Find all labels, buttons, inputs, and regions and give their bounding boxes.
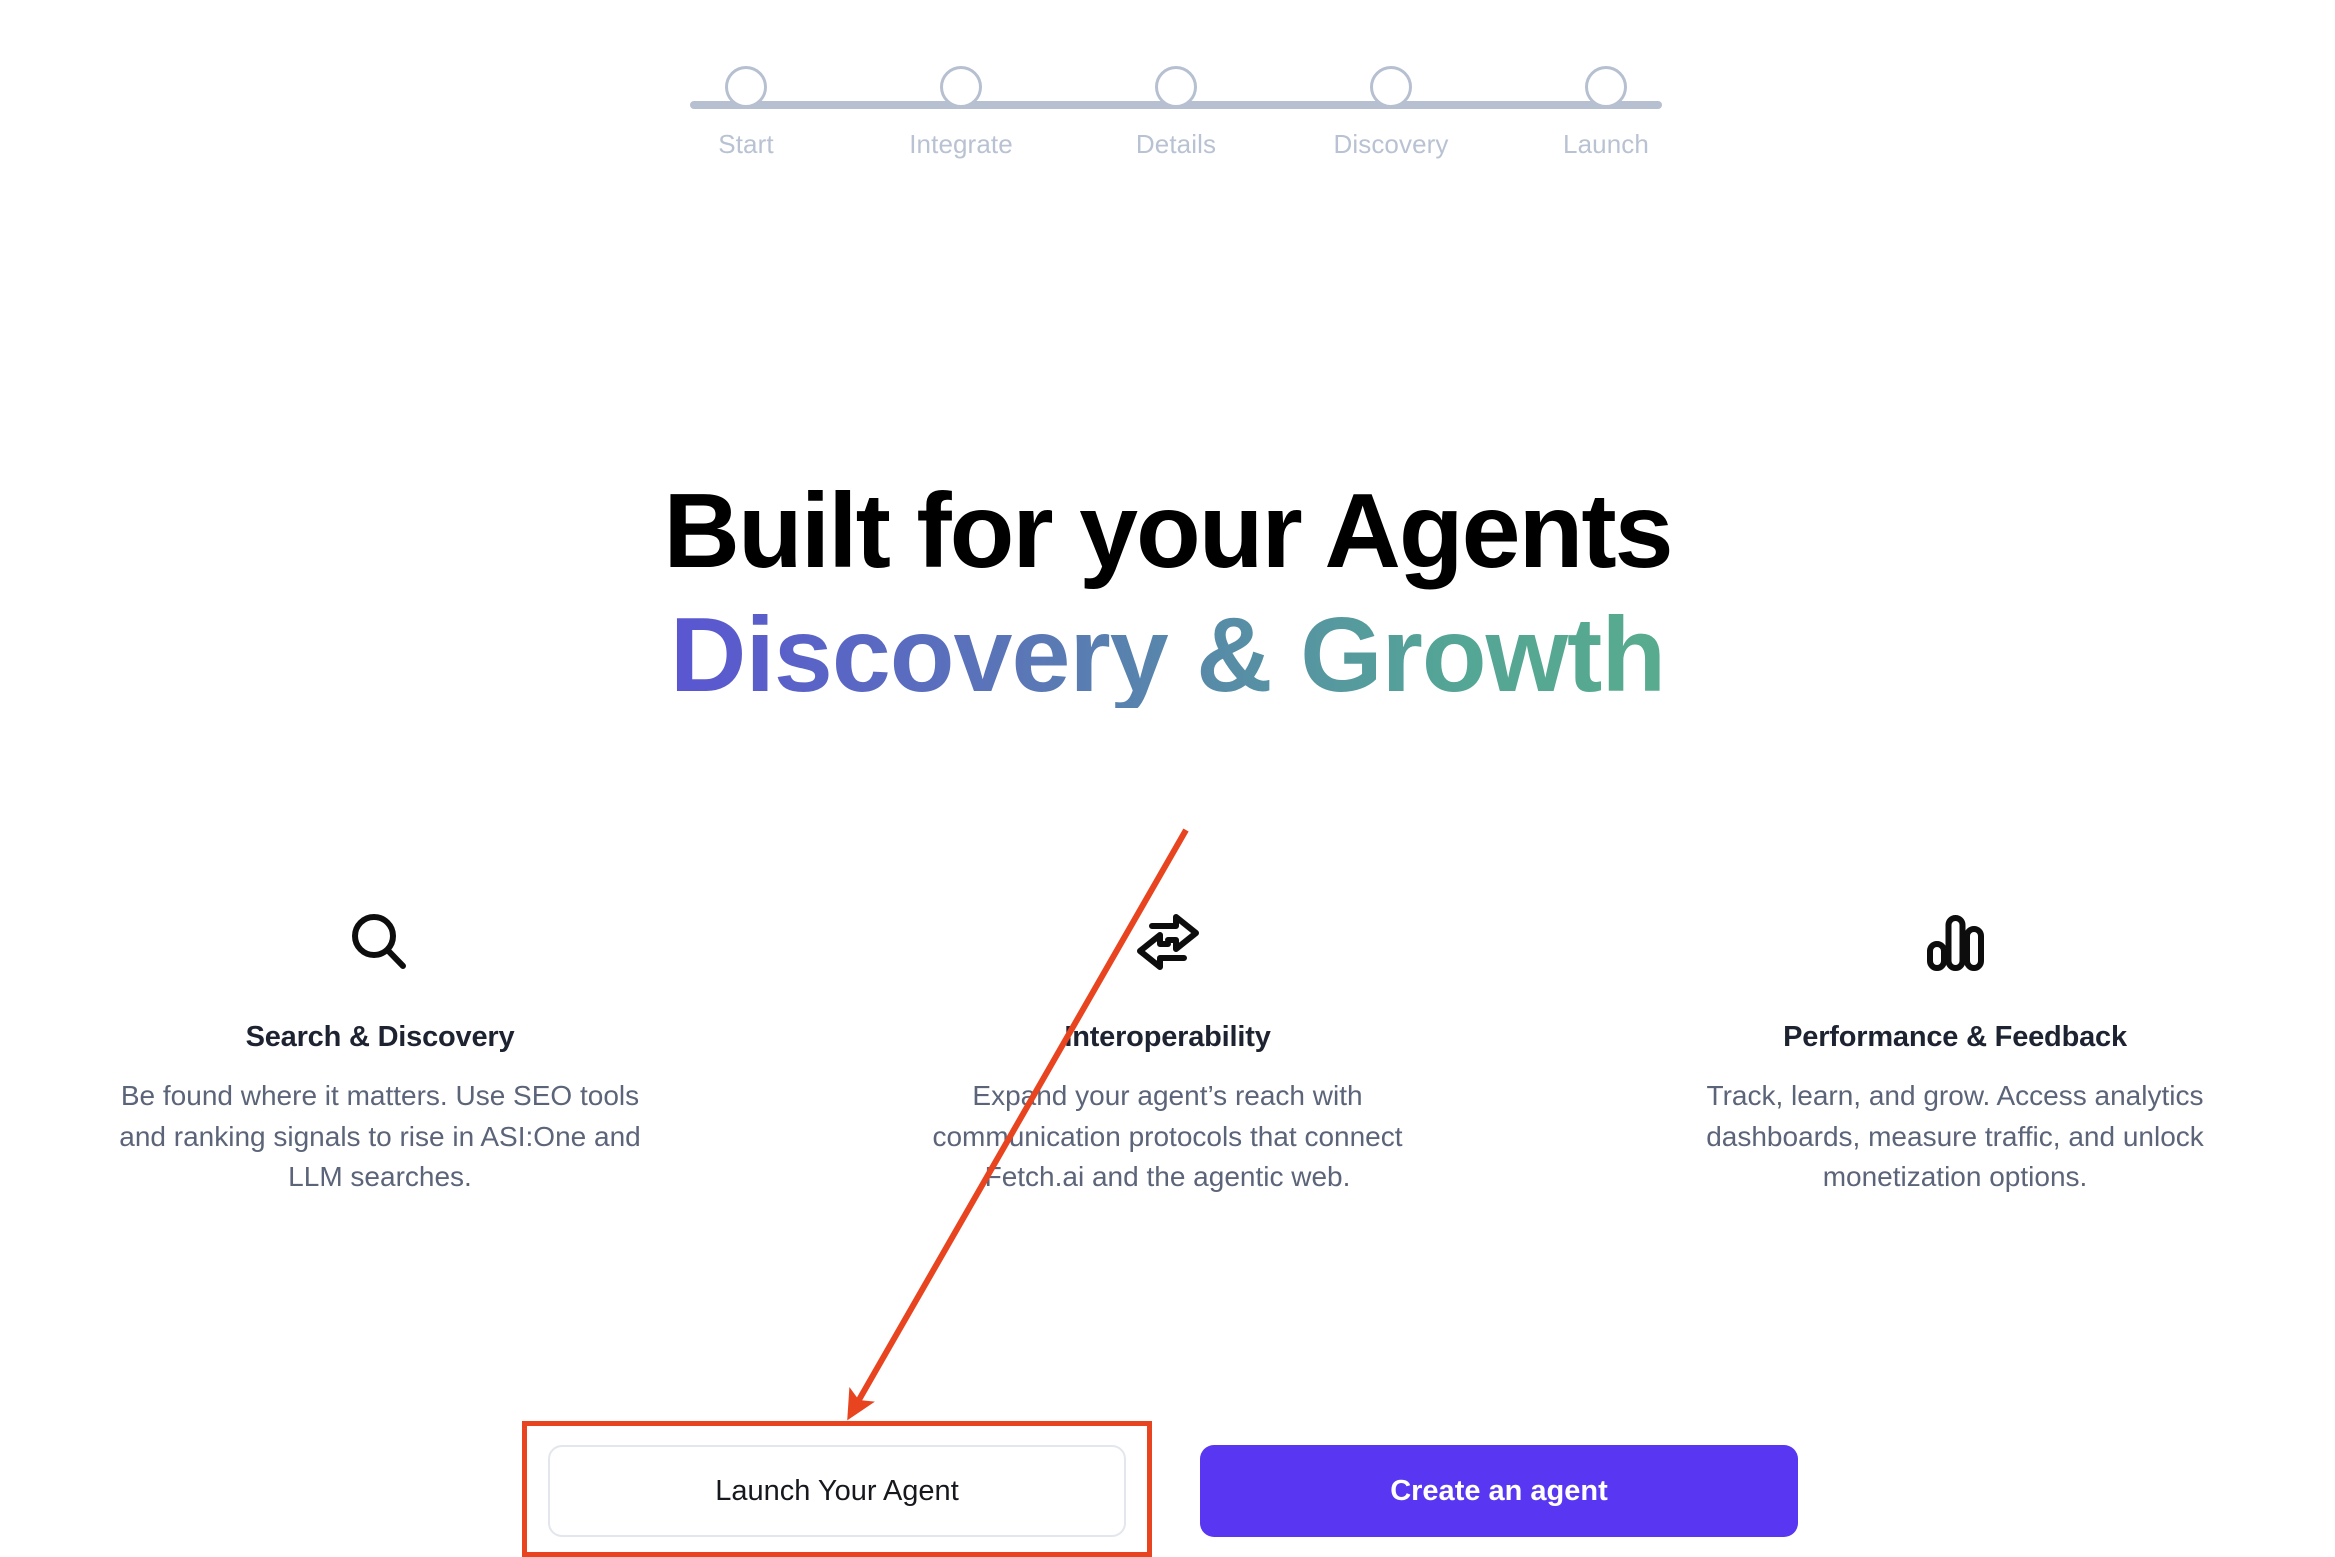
action-bar: Launch Your Agent Create an agent bbox=[0, 1445, 2335, 1557]
step-dot-icon bbox=[725, 66, 767, 108]
headline-line-2: Discovery & Growth bbox=[0, 602, 2335, 708]
stepper-step-label: Start bbox=[718, 129, 773, 160]
step-dot-icon bbox=[940, 66, 982, 108]
stepper-step-start[interactable]: Start bbox=[676, 66, 816, 160]
feature-card-performance-feedback: Performance & Feedback Track, learn, and… bbox=[1635, 905, 2275, 1198]
bar-chart-icon bbox=[1919, 905, 1991, 981]
feature-description: Expand your agent’s reach with communica… bbox=[883, 1076, 1453, 1198]
feature-title: Search & Discovery bbox=[246, 1021, 515, 1054]
stepper-step-label: Details bbox=[1136, 129, 1216, 160]
feature-description: Be found where it matters. Use SEO tools… bbox=[95, 1076, 665, 1198]
search-icon bbox=[344, 905, 416, 981]
stepper-step-details[interactable]: Details bbox=[1106, 66, 1246, 160]
stepper-step-launch[interactable]: Launch bbox=[1536, 66, 1676, 160]
step-dot-icon bbox=[1370, 66, 1412, 108]
stepper-nodes: Start Integrate Details Discovery Launch bbox=[676, 66, 1676, 160]
headline-line-1: Built for your Agents bbox=[0, 478, 2335, 584]
onboarding-stepper: Start Integrate Details Discovery Launch bbox=[676, 38, 1676, 148]
page-title: Built for your Agents Discovery & Growth bbox=[0, 478, 2335, 708]
step-dot-icon bbox=[1155, 66, 1197, 108]
stepper-step-label: Launch bbox=[1563, 129, 1649, 160]
create-an-agent-button[interactable]: Create an agent bbox=[1200, 1445, 1798, 1537]
swap-arrows-icon bbox=[1130, 905, 1206, 981]
annotation-arrow bbox=[0, 0, 2335, 1557]
step-dot-icon bbox=[1585, 66, 1627, 108]
feature-card-interoperability: Interoperability Expand your agent’s rea… bbox=[848, 905, 1488, 1198]
stepper-step-label: Integrate bbox=[909, 129, 1013, 160]
feature-description: Track, learn, and grow. Access analytics… bbox=[1670, 1076, 2240, 1198]
stepper-step-integrate[interactable]: Integrate bbox=[891, 66, 1031, 160]
stepper-step-label: Discovery bbox=[1333, 129, 1448, 160]
launch-your-agent-button[interactable]: Launch Your Agent bbox=[548, 1445, 1126, 1537]
feature-card-search-discovery: Search & Discovery Be found where it mat… bbox=[60, 905, 700, 1198]
feature-list: Search & Discovery Be found where it mat… bbox=[60, 905, 2275, 1198]
stepper-step-discovery[interactable]: Discovery bbox=[1321, 66, 1461, 160]
feature-title: Performance & Feedback bbox=[1783, 1021, 2127, 1054]
feature-title: Interoperability bbox=[1064, 1021, 1270, 1054]
